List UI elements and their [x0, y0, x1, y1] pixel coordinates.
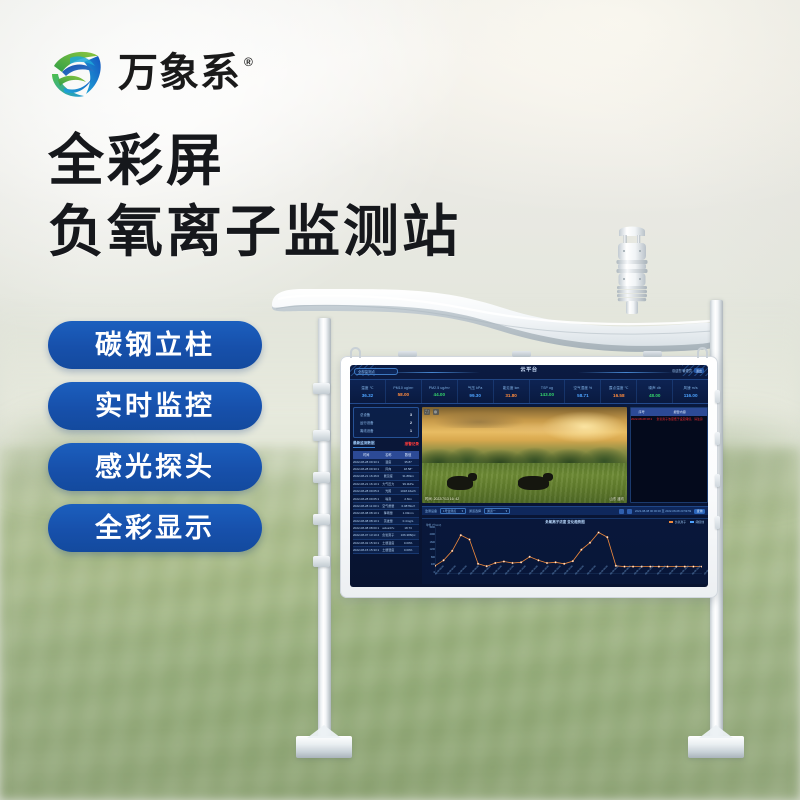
channel-select[interactable]: 通道一 ▾: [484, 508, 510, 514]
chevron-down-icon: ▾: [462, 508, 463, 514]
table-cell: 2022-08-21 16:46:08: [353, 473, 379, 479]
device-select-value: 1号监测点: [443, 508, 456, 514]
screen-body: 总设备 3 运行设备 2 离线设备 1 最新监测数据: [350, 404, 708, 587]
metric-label: 风速 m/s: [684, 386, 698, 391]
chart-point: [469, 539, 471, 541]
table-row[interactable]: 2022-08-28 11:00:18空气质量0.0876lu/f: [353, 503, 419, 510]
feature-pill-2[interactable]: 实时监控: [48, 382, 262, 430]
right-base-plate: [688, 736, 744, 758]
alarm-head-row: 序号 报警内容: [631, 408, 707, 416]
table-cell: 土壤温度: [379, 540, 397, 546]
chart-point: [624, 566, 626, 568]
table-row[interactable]: 2022-08-15 15:33:18土壤湿度0.00%: [353, 547, 419, 554]
chart-point: [538, 559, 540, 561]
metric-windspeed: 风速 m/s 116.00: [673, 380, 708, 403]
metric-value: 143.00: [540, 392, 554, 397]
cabinet-tab-2: [512, 351, 531, 357]
video-row: ⛶ ◎ 时间: 2022/7/13 16: 42 山东 潍坊 序号 报警内容: [422, 407, 708, 503]
metric-tsp: TSP ug 143.00: [530, 380, 566, 403]
legend-label: 负氧离子: [675, 520, 686, 524]
chart-point: [563, 563, 565, 565]
brand-wordmark: 万象系 ®: [118, 53, 253, 93]
stat-row-online: 运行设备 2: [360, 420, 412, 425]
post-clamp-4: [313, 514, 330, 525]
table-cell: 2022-08-07 13:10:47: [353, 532, 379, 538]
table-body: 2022-08-28 09:33:18温度35.872022-08-28 09:…: [353, 459, 419, 555]
metric-label: PM10 ug/m³: [393, 386, 413, 390]
table-cell: 负氧离子: [379, 532, 397, 538]
metric-value: 58.71: [577, 393, 589, 398]
table-cell: 2022-08-28 09:33:18: [353, 466, 379, 472]
snapshot-icon[interactable]: ◎: [433, 409, 439, 415]
alarm-col-index: 序号: [631, 408, 652, 416]
table-cell: 2022-08-15 15:33:18: [353, 547, 379, 553]
chevron-down-icon: ▾: [506, 508, 507, 514]
col-value: 数值: [397, 451, 419, 459]
video-overlay-icons: ⛶ ◎: [424, 409, 439, 415]
headline-line-1: 全彩屏: [48, 126, 461, 197]
chart-y-axis: 24002000160012008004000: [424, 527, 435, 574]
cabinet-tab-3: [643, 351, 662, 357]
table-cell: 2022-08-21 16:10:11: [353, 481, 379, 487]
center-panel: ⛶ ◎ 时间: 2022/7/13 16: 42 山东 潍坊 序号 报警内容: [422, 404, 708, 587]
fullscreen-icon[interactable]: ⛶: [424, 409, 430, 415]
chart-point: [443, 559, 445, 561]
channel-select-value: 通道一: [487, 508, 496, 514]
feature-pill-4[interactable]: 全彩显示: [48, 504, 262, 552]
table-cell: 0.00%: [397, 540, 419, 546]
table-cell: 18.58°: [397, 466, 419, 472]
station-selector[interactable]: 全部监测点: [354, 368, 398, 375]
post-clamp-2: [313, 430, 330, 441]
mount-hook-right: [697, 347, 708, 358]
left-base-plate: [296, 736, 352, 758]
left-steel-post: [318, 318, 331, 738]
chart-x-axis: 08-08 00:0008-08 02:0008-08 04:0008-08 0…: [435, 574, 702, 584]
stat-row-offline: 离线设备 1: [360, 428, 412, 433]
metric-label: 能见度 km: [503, 386, 520, 391]
table-cell: 35.87: [397, 459, 419, 465]
video-cow-1: [447, 476, 474, 489]
legend-swatch: [690, 521, 694, 523]
live-camera-feed[interactable]: ⛶ ◎ 时间: 2022/7/13 16: 42 山东 潍坊: [422, 407, 627, 503]
led-display-cabinet: 云平台 全部监测点 欢迎您 管理员 退出 温度 ℃ 36.32 PM10 ug/…: [340, 356, 718, 598]
metric-value: 99.30: [469, 393, 481, 398]
metric-label: 噪声 db: [649, 386, 661, 391]
metric-pm10: PM10 ug/m³ 58.00: [386, 380, 422, 403]
alarm-row[interactable]: 2022-08-08 08:11:12 负氧离子浓度低于设定阈值，请注意: [631, 416, 707, 423]
table-row[interactable]: 2022-08-08 08:10:18蒸发量0.4mg/L: [353, 518, 419, 525]
table-cell: 2022-08-02 15:33:10: [353, 540, 379, 546]
chart-point: [572, 560, 574, 562]
metric-label: 气压 kPa: [468, 386, 483, 391]
legend-item-1: 负氧离子: [669, 520, 686, 524]
stat-value: 1: [410, 429, 412, 433]
chart-point: [658, 566, 660, 568]
brand-name: 万象系: [118, 53, 241, 93]
date-range-value[interactable]: 2022-08-08 00:00:00 至 2022-08-08 23:59:5…: [635, 509, 691, 513]
post-clamp-1: [313, 383, 330, 394]
brand-logo: 万象系 ®: [48, 44, 253, 102]
feature-pill-3-label: 感光探头: [95, 454, 215, 481]
cabinet-side-vent-1: [715, 390, 720, 403]
header-rule-right: [578, 372, 674, 373]
feature-pill-1-label: 碳钢立柱: [95, 332, 215, 359]
metric-value: 44.00: [434, 392, 446, 397]
table-row[interactable]: 2022-08-28 09:33:18风向18.58°: [353, 466, 419, 473]
chart-point: [460, 534, 462, 536]
table-row[interactable]: 2022-08-28 09:05:20光照1018.16w/h: [353, 488, 419, 495]
metric-value: 58.00: [398, 392, 410, 397]
chart-point: [529, 556, 531, 558]
col-time: 时间: [353, 451, 379, 459]
post-clamp-3: [313, 472, 330, 483]
latest-data-table[interactable]: 时间 名称 数值 2022-08-28 09:33:18温度35.872022-…: [353, 451, 419, 585]
metric-label: TSP ug: [541, 386, 553, 390]
legend-swatch: [669, 521, 673, 523]
data-table-title: 最新监测数据: [353, 441, 375, 448]
table-cell: 2.6lm: [397, 495, 419, 501]
chart-point: [589, 542, 591, 544]
channel-select-label: 通道选择: [469, 509, 481, 513]
stop-icon[interactable]: [627, 509, 632, 514]
device-stats-box: 总设备 3 运行设备 2 离线设备 1: [353, 407, 419, 438]
metric-pressure: 气压 kPa 99.30: [458, 380, 494, 403]
feature-pill-1[interactable]: 碳钢立柱: [48, 321, 262, 369]
alarm-col-content: 报警内容: [652, 408, 707, 416]
table-cell: 0.4mg/L: [397, 518, 419, 524]
left-panel: 总设备 3 运行设备 2 离线设备 1 最新监测数据: [350, 404, 422, 587]
device-select-label: 监测设备: [425, 509, 437, 513]
table-cell: 温度: [379, 459, 397, 465]
table-row[interactable]: 2022-08-28 09:05:19噪音2.6lm: [353, 495, 419, 502]
stat-label: 总设备: [360, 412, 370, 417]
chart-series-line: [435, 533, 702, 567]
legend-label: 阈值线: [696, 520, 704, 524]
post-clamp-5: [313, 556, 330, 567]
table-header-bar: 最新监测数据 报警记录: [353, 441, 419, 448]
metric-label: 露点温度 ℃: [609, 386, 629, 391]
logout-button[interactable]: 退出: [694, 368, 704, 373]
metric-label: PM2.5 ug/m³: [429, 386, 450, 390]
table-row[interactable]: 2022-08-08 08:10:18降雨量1.00mm: [353, 510, 419, 517]
video-cow-2: [518, 476, 549, 489]
table-cell: 0.0876lu/f: [397, 503, 419, 509]
metric-value: 48.00: [649, 393, 661, 398]
chart-point: [581, 549, 583, 551]
table-row[interactable]: 2022-08-08 08:00:18wdos37u18.73: [353, 525, 419, 532]
metric-value: 31.80: [505, 393, 517, 398]
table-cell: 土壤湿度: [379, 547, 397, 553]
metric-temperature: 温度 ℃ 36.32: [350, 380, 386, 403]
table-cell: wdos37u: [379, 525, 397, 531]
screen-header: 云平台 全部监测点 欢迎您 管理员 退出: [350, 365, 708, 379]
stat-row-total: 总设备 3: [360, 412, 412, 417]
device-select[interactable]: 1号监测点 ▾: [440, 508, 466, 514]
headline-line-2: 负氧离子监测站: [48, 197, 461, 268]
chart-point: [451, 550, 453, 552]
table-cell: 能见度: [379, 473, 397, 479]
video-timestamp: 时间: 2022/7/13 16: 42: [425, 496, 459, 501]
feature-pill-list: 碳钢立柱 实时监控 感光探头 全彩显示: [48, 321, 262, 552]
feature-pill-4-label: 全彩显示: [95, 515, 215, 542]
cabinet-side-vent-2: [715, 432, 720, 445]
feature-pill-2-label: 实时监控: [95, 393, 215, 420]
globe-swoosh-logo-icon: [48, 44, 106, 102]
metric-label: 空气湿度 %: [574, 386, 593, 391]
table-cell: 1018.16w/h: [397, 488, 419, 494]
metrics-strip: 温度 ℃ 36.32 PM10 ug/m³ 58.00 PM2.5 ug/m³ …: [350, 379, 708, 404]
screen-title: 云平台: [520, 366, 537, 373]
mount-hook-left: [350, 347, 361, 358]
table-cell: 风向: [379, 466, 397, 472]
chart-point: [435, 565, 436, 567]
metric-humidity: 空气湿度 % 58.71: [565, 380, 601, 403]
header-rule-left: [384, 372, 480, 373]
table-cell: 2022-08-08 08:10:18: [353, 510, 379, 516]
chart-point: [546, 562, 548, 564]
metric-value: 36.32: [362, 393, 374, 398]
table-head-row: 时间 名称 数值: [353, 451, 419, 459]
trend-chart: 负氧离子浓度 变化趋势图 单位 (个/cm³) 负氧离子 阈值线: [422, 518, 708, 584]
chart-point: [512, 562, 514, 564]
table-cell: 蒸发量: [379, 518, 397, 524]
table-row[interactable]: 2022-08-02 15:33:10土壤温度0.00%: [353, 540, 419, 547]
table-cell: 降雨量: [379, 510, 397, 516]
chart-title: 负氧离子浓度 变化趋势图: [545, 520, 584, 525]
table-cell: 99.3kPa: [397, 481, 419, 487]
registered-mark: ®: [244, 55, 253, 69]
alarm-row-time: 2022-08-08 08:11:12: [631, 416, 652, 423]
table-cell: 噪音: [379, 495, 397, 501]
video-toolbar: 监测设备 1号监测点 ▾ 通道选择 通道一 ▾ 2022-: [422, 506, 708, 515]
ultrasonic-weather-sensor: [604, 222, 660, 318]
chart-point: [520, 561, 522, 563]
table-row[interactable]: 2022-08-21 16:46:08能见度31.88km: [353, 473, 419, 480]
table-row[interactable]: 2022-08-21 16:10:11大气压力99.3kPa: [353, 481, 419, 488]
metric-dewpoint: 露点温度 ℃ 16.58: [601, 380, 637, 403]
metric-noise: 噪声 db 48.00: [637, 380, 673, 403]
table-cell: 2022-08-28 11:00:18: [353, 503, 379, 509]
table-row[interactable]: 2022-08-07 13:10:47负氧离子166.388/pc: [353, 532, 419, 539]
table-cell: 2022-08-08 08:10:18: [353, 518, 379, 524]
table-cell: 1.00mm: [397, 510, 419, 516]
chart-point: [494, 562, 496, 564]
metric-value: 16.58: [613, 393, 625, 398]
alarm-row-content: 负氧离子浓度低于设定阈值，请注意: [652, 416, 707, 423]
user-area: 欢迎您 管理员 退出: [672, 368, 704, 373]
video-cloud-2: [484, 422, 599, 435]
stat-label: 离线设备: [360, 428, 374, 433]
table-cell: 空气质量: [379, 503, 397, 509]
table-cell: 2022-08-28 09:05:20: [353, 488, 379, 494]
metric-value: 116.00: [684, 393, 698, 398]
col-name: 名称: [379, 451, 397, 459]
feature-pill-3[interactable]: 感光探头: [48, 443, 262, 491]
table-cell: 2022-08-28 09:05:19: [353, 495, 379, 501]
legend-item-2: 阈值线: [690, 520, 704, 524]
alarm-panel: 序号 报警内容 2022-08-08 08:11:12 负氧离子浓度低于设定阈值…: [630, 407, 708, 503]
chart-point: [606, 536, 608, 538]
chart-x-tick: 08-09 22:00: [704, 566, 708, 581]
chart-point: [503, 561, 505, 563]
cabinet-tab-1: [398, 351, 417, 357]
table-cell: 2022-08-08 08:00:18: [353, 525, 379, 531]
chart-point: [555, 561, 557, 563]
metric-label: 温度 ℃: [361, 386, 373, 391]
table-cell: 光照: [379, 488, 397, 494]
table-cell: 18.73: [397, 525, 419, 531]
chart-point: [598, 532, 600, 534]
table-cell: 31.88km: [397, 473, 419, 479]
led-screen: 云平台 全部监测点 欢迎您 管理员 退出 温度 ℃ 36.32 PM10 ug/…: [350, 365, 708, 587]
table-cell: 2022-08-28 09:33:18: [353, 459, 379, 465]
alarm-records-link[interactable]: 报警记录: [405, 442, 419, 447]
metric-pm25: PM2.5 ug/m³ 44.00: [422, 380, 458, 403]
cabinet-side-vent-3: [715, 474, 720, 487]
metric-visibility: 能见度 km 31.80: [494, 380, 530, 403]
chart-point: [693, 566, 695, 568]
user-greeting: 欢迎您 管理员: [672, 368, 692, 373]
stat-value: 3: [410, 413, 412, 417]
cabinet-side-vent-4: [715, 516, 720, 529]
table-row[interactable]: 2022-08-28 09:33:18温度35.87: [353, 459, 419, 466]
table-cell: 大气压力: [379, 481, 397, 487]
table-cell: 0.00%: [397, 547, 419, 553]
chart-legend: 负氧离子 阈值线: [669, 520, 704, 524]
page-title: 全彩屏 负氧离子监测站: [48, 126, 461, 267]
video-watermark: 山东 潍坊: [609, 496, 624, 501]
stat-value: 2: [410, 421, 412, 425]
play-icon[interactable]: [619, 509, 624, 514]
stat-label: 运行设备: [360, 420, 374, 425]
table-cell: 166.388/pc: [397, 532, 419, 538]
query-button[interactable]: 查询: [694, 509, 705, 514]
